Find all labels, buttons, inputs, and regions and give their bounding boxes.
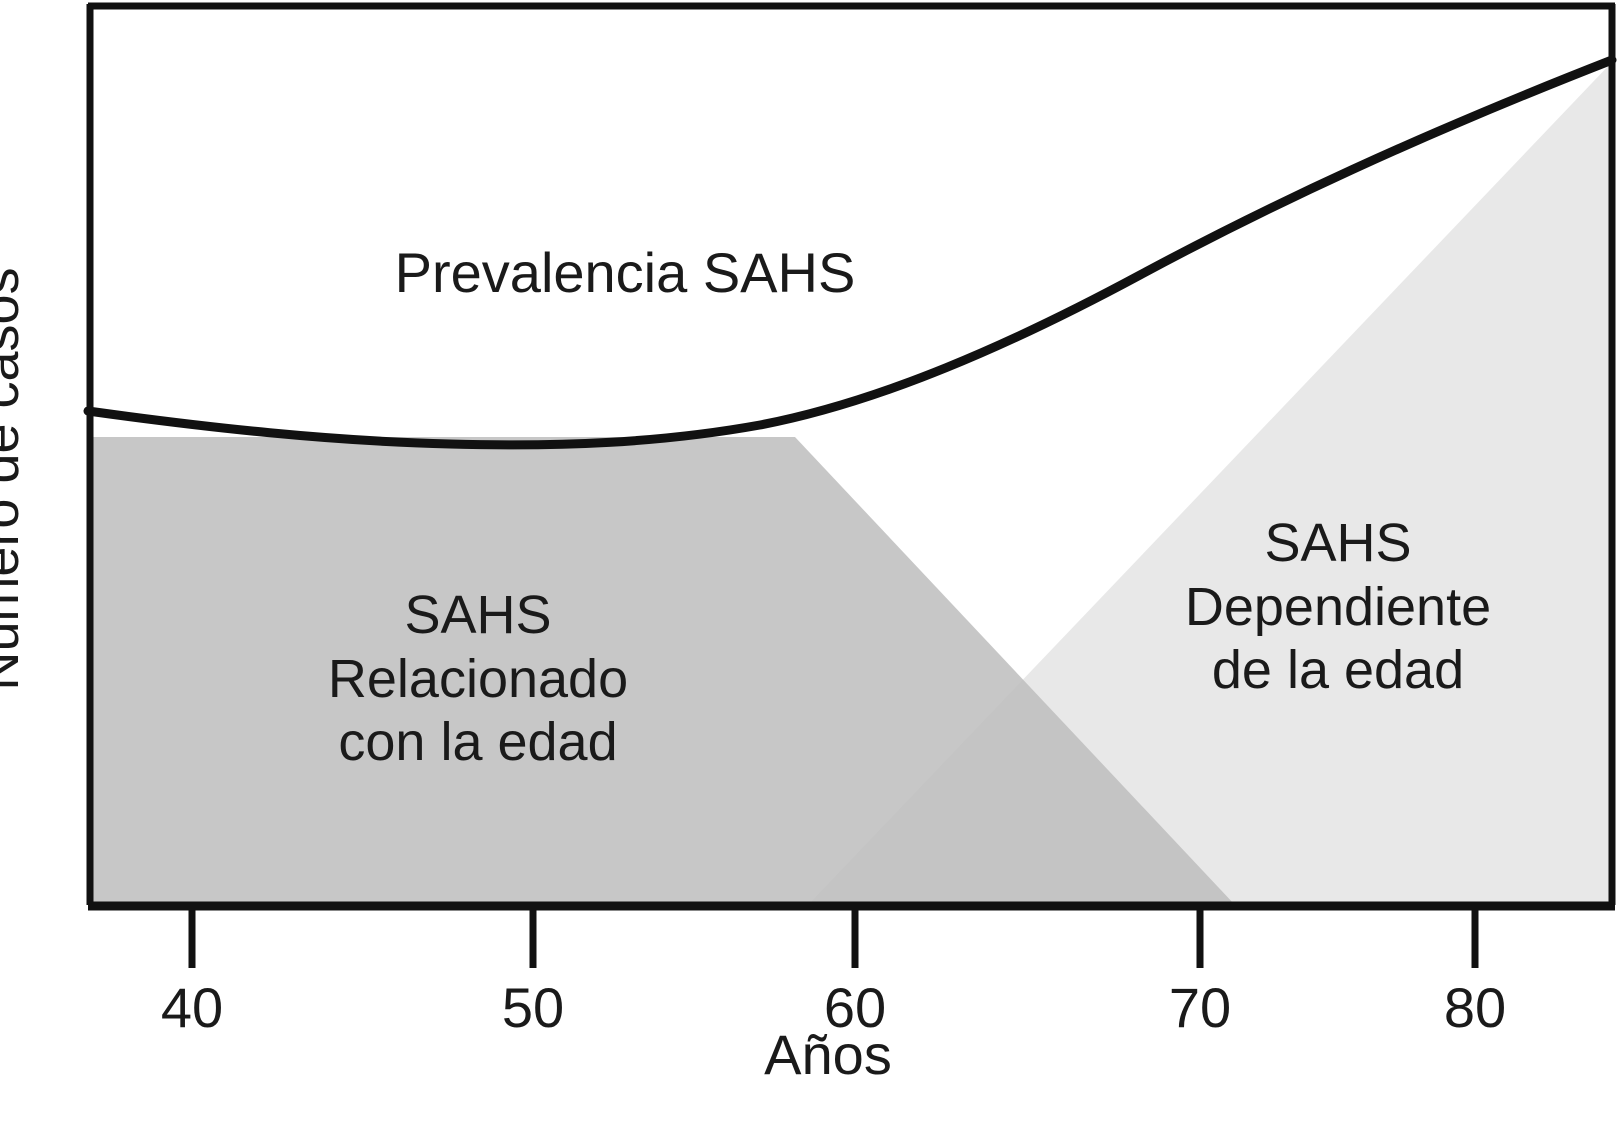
x-tick-label-40: 40: [161, 980, 223, 1036]
prevalence-curve-label: Prevalencia SAHS: [395, 240, 856, 306]
age-dependent-label-line-1: SAHS: [1185, 512, 1491, 576]
x-tick-label-50: 50: [502, 980, 564, 1036]
age-related-label-line-1: SAHS: [328, 584, 628, 648]
age-dependent-label-line-3: de la edad: [1185, 639, 1491, 703]
age-related-label-line-2: Relacionado: [328, 648, 628, 712]
x-axis-title: Años: [764, 1027, 892, 1083]
age-dependent-region-label: SAHS Dependiente de la edad: [1185, 512, 1491, 703]
x-tick-label-80: 80: [1444, 980, 1506, 1036]
y-axis-title: Número de casos: [0, 267, 27, 690]
chart-figure: 40 50 60 70 80 Años Número de casos Prev…: [0, 0, 1619, 1131]
age-related-label-line-3: con la edad: [328, 711, 628, 775]
age-related-region-label: SAHS Relacionado con la edad: [328, 584, 628, 775]
age-dependent-label-line-2: Dependiente: [1185, 576, 1491, 640]
x-axis-ticks: [192, 906, 1475, 968]
x-tick-label-70: 70: [1169, 980, 1231, 1036]
